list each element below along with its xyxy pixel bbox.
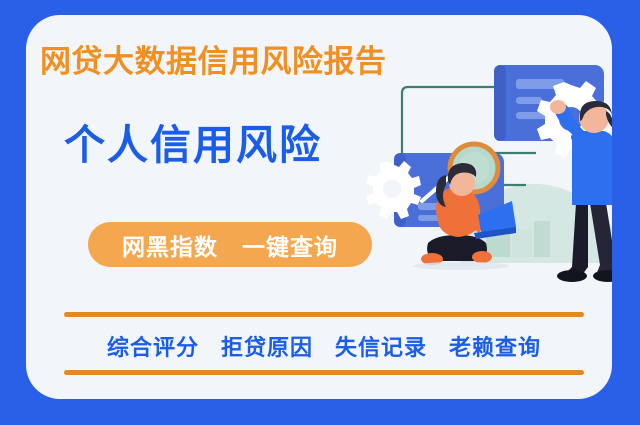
divider-top: [64, 312, 584, 317]
promo-banner: 网贷大数据信用风险报告 个人信用风险 网黑指数 一键查询 综合评分 拒贷原因 失…: [0, 0, 640, 425]
divider-bottom: [64, 370, 584, 375]
data-analysis-illustration: [366, 35, 612, 305]
query-cta-label: 网黑指数 一键查询: [122, 228, 338, 262]
feature-list: 综合评分 拒贷原因 失信记录 老赖查询: [64, 325, 584, 367]
feature-item-rejection-reason[interactable]: 拒贷原因: [221, 330, 313, 362]
banner-card: 网贷大数据信用风险报告 个人信用风险 网黑指数 一键查询 综合评分 拒贷原因 失…: [26, 15, 612, 399]
query-cta-button[interactable]: 网黑指数 一键查询: [88, 222, 372, 267]
feature-item-default-record[interactable]: 失信记录: [335, 330, 427, 362]
feature-item-debtor-lookup[interactable]: 老赖查询: [449, 330, 541, 362]
feature-item-score[interactable]: 综合评分: [107, 330, 199, 362]
